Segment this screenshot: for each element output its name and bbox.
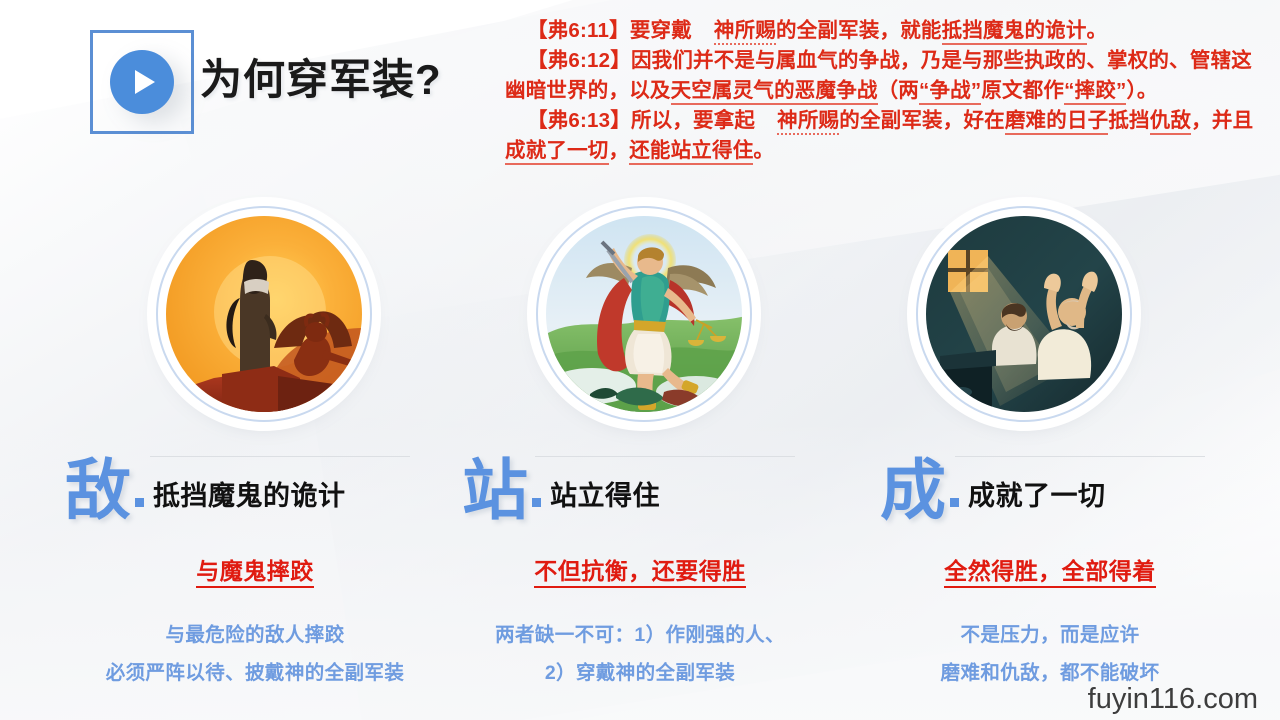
verse-6-13-underlined-a: 磨难的日子 (1005, 109, 1109, 135)
column-2-body-line: 2）穿戴神的全副军装 (440, 654, 840, 692)
frame-edge-right (191, 66, 194, 98)
column-2-heading: 站 站立得住 (440, 460, 840, 521)
column-1-body-line: 必须严阵以待、披戴神的全副军装 (55, 654, 455, 692)
column-image-2 (536, 206, 752, 422)
column-1-highlight-text: 与魔鬼摔跤 (196, 558, 314, 588)
column-3-big-char: 成 (880, 460, 946, 521)
column-1-heading: 敌 抵挡魔鬼的诡计 (55, 460, 455, 521)
verse-6-13-underlined-b: 仇敌 (1150, 109, 1191, 135)
column-3-highlight: 全然得胜，全部得着 (850, 552, 1250, 586)
column-image-1-inner (166, 216, 362, 412)
verse-6-12-text-b: （两 (878, 79, 919, 102)
column-3-heading: 成 成就了一切 (850, 460, 1250, 521)
verse-6-13-dotted: 神所赐 (777, 109, 839, 135)
site-watermark: fuyin116.com (1088, 683, 1258, 716)
verse-6-12-text-d: ）。 (1126, 79, 1157, 102)
verse-6-11-dotted: 神所赐 (714, 19, 776, 45)
column-1-rule (150, 456, 410, 457)
column-2-heading-dot (532, 498, 541, 507)
verse-6-11-text-b: 的全副军装，就能 (776, 19, 942, 42)
archangel-michael-illustration (546, 216, 742, 412)
column-2-body-line: 两者缺一不可：1）作刚强的人、 (440, 616, 840, 654)
column-1-big-char: 敌 (65, 460, 131, 521)
column-3-rule (955, 456, 1205, 457)
slide-header: 为何穿军装? 【弗6:11】要穿戴神所赐的全副军装，就能抵挡魔鬼的诡计。 【弗6… (0, 0, 1280, 185)
column-image-2-inner (546, 216, 742, 412)
column-1-heading-dot (135, 498, 144, 507)
scripture-verse-6-11: 【弗6:11】要穿戴神所赐的全副军装，就能抵挡魔鬼的诡计。 (505, 16, 1267, 46)
column-3-highlight-text: 全然得胜，全部得着 (944, 558, 1156, 588)
frame-edge-bottom (126, 131, 158, 134)
frame-edge-top (126, 30, 158, 33)
column-image-3 (916, 206, 1132, 422)
column-2-rule (535, 456, 795, 457)
column-image-1 (156, 206, 372, 422)
play-circle (110, 50, 174, 114)
column-1-highlight: 与魔鬼摔跤 (55, 552, 455, 586)
scripture-verse-6-12: 【弗6:12】因我们并不是与属血气的争战，乃是与那些执政的、掌权的、管辖这幽暗世… (505, 46, 1267, 106)
verse-6-13-text-c: 抵挡 (1108, 109, 1149, 132)
verse-6-12-quoted-a: “争战” (919, 79, 981, 105)
column-2-heading-label: 站立得住 (550, 474, 660, 521)
column-1-body-line: 与最危险的敌人摔跤 (55, 616, 455, 654)
column-3-body-line: 不是压力，而是应许 (850, 616, 1250, 654)
column-image-3-inner (926, 216, 1122, 412)
verse-6-13-text-b: 的全副军装，好在 (839, 109, 1005, 132)
verse-6-12-text-c: 原文都作 (981, 79, 1064, 102)
column-3-body: 不是压力，而是应许 磨难和仇敌，都不能破坏 (850, 616, 1250, 692)
play-triangle-glyph (135, 70, 155, 94)
verse-6-13-underlined-d: 还能站立得住 (629, 139, 753, 165)
verse-ref-6-13: 【弗6:13】 (527, 109, 631, 132)
column-2-big-char: 站 (462, 460, 528, 521)
play-button-icon (90, 30, 194, 134)
column-2-highlight: 不但抗衡，还要得胜 (440, 552, 840, 586)
column-2-highlight-text: 不但抗衡，还要得胜 (534, 558, 746, 588)
column-1-body: 与最危险的敌人摔跤 必须严阵以待、披戴神的全副军装 (55, 616, 455, 692)
prisoners-praying-illustration (926, 216, 1122, 412)
verse-6-13-text-d: ，并且 (1191, 109, 1253, 132)
verse-6-12-underlined-a: 天空属灵气的恶魔争战 (671, 79, 878, 105)
page-title: 为何穿军装? (200, 46, 442, 107)
verse-6-13-underlined-c: 成就了一切 (505, 139, 609, 165)
column-2-body: 两者缺一不可：1）作刚强的人、 2）穿戴神的全副军装 (440, 616, 840, 692)
verse-ref-6-12: 【弗6:12】 (527, 49, 631, 72)
scripture-block: 【弗6:11】要穿戴神所赐的全副军装，就能抵挡魔鬼的诡计。 【弗6:12】因我们… (505, 16, 1267, 166)
verse-6-13-text-f: 。 (753, 139, 774, 162)
scripture-verse-6-13: 【弗6:13】所以，要拿起神所赐的全副军装，好在磨难的日子抵挡仇敌，并且成就了一… (505, 106, 1267, 166)
column-3-heading-label: 成就了一切 (968, 474, 1106, 521)
frame-edge-left (90, 66, 93, 98)
column-3-heading-dot (950, 498, 959, 507)
verse-6-11-underlined: 抵挡魔鬼的诡计 (942, 19, 1087, 45)
verse-6-12-underlined-b: “摔跤” (1064, 79, 1126, 105)
verse-6-11-text-a: 要穿戴 (630, 19, 692, 42)
verse-6-11-text-c: 。 (1087, 19, 1108, 42)
verse-6-13-text-e: ， (609, 139, 630, 162)
verse-6-13-text-a: 所以，要拿起 (631, 109, 755, 132)
sunset-figure-and-winged-demon-illustration (166, 216, 362, 412)
verse-ref-6-11: 【弗6:11】 (527, 19, 630, 42)
slide-canvas: 为何穿军装? 【弗6:11】要穿戴神所赐的全副军装，就能抵挡魔鬼的诡计。 【弗6… (0, 0, 1280, 720)
column-1-heading-label: 抵挡魔鬼的诡计 (153, 474, 346, 521)
